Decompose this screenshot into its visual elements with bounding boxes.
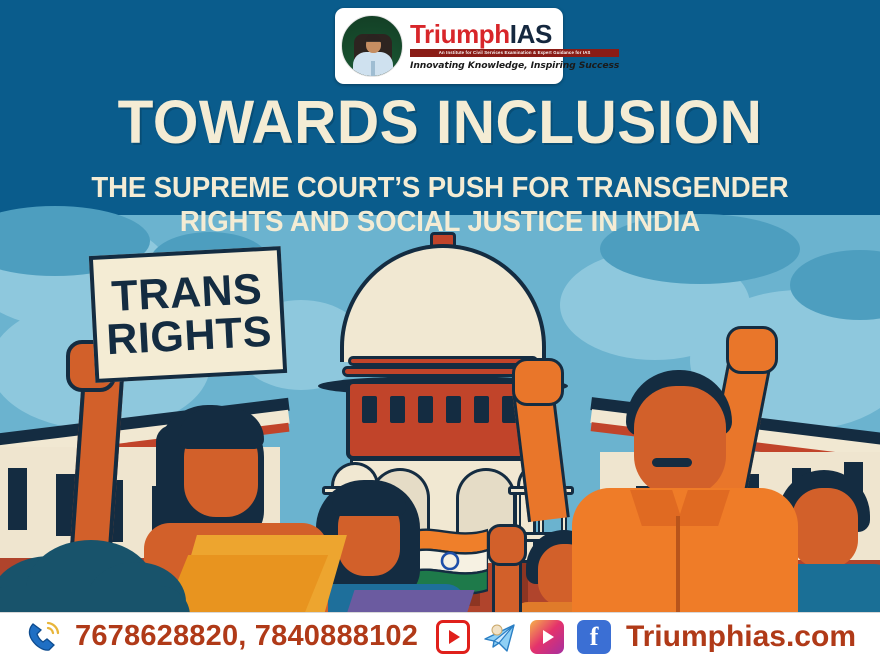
left-wing-window (8, 468, 27, 530)
contact-footer-bar: 7678628820, 7840888102 f Triumphias.com (0, 612, 880, 660)
shirt-placket (676, 516, 680, 626)
drum-window (474, 396, 489, 423)
drum-window (390, 396, 405, 423)
drum-window (362, 396, 377, 423)
brand-descriptor-strip: An Institute for Civil Services Examinat… (410, 49, 619, 57)
right-fist (726, 326, 778, 374)
subtitle-line-1: THE SUPREME COURT’S PUSH FOR TRANSGENDER (22, 172, 858, 206)
raised-fist-center (487, 524, 527, 566)
instagram-icon[interactable] (530, 620, 564, 654)
left-fist (512, 358, 564, 406)
moustache (652, 458, 692, 467)
brand-logo-card[interactable]: TriumphIAS An Institute for Civil Servic… (335, 8, 563, 84)
brand-name-secondary: IAS (510, 19, 552, 49)
instagram-play-triangle (543, 630, 554, 644)
phone-numbers[interactable]: 7678628820, 7840888102 (75, 620, 418, 653)
founder-portrait-photo (341, 15, 403, 77)
portrait-glasses (366, 41, 380, 44)
protest-sign-trans-rights: TRANS RIGHTS (89, 246, 287, 383)
dome-band-upper (348, 356, 538, 366)
dome-shell (340, 244, 546, 362)
dome-drum (346, 380, 540, 460)
brand-text-block: TriumphIAS An Institute for Civil Servic… (403, 21, 619, 71)
hair-top (332, 482, 406, 516)
brand-name: TriumphIAS (410, 21, 619, 48)
subtitle-line-2: RIGHTS AND SOCIAL JUSTICE IN INDIA (22, 206, 858, 240)
face (634, 386, 726, 496)
telegram-icon[interactable] (483, 620, 517, 654)
youtube-play-triangle (449, 630, 460, 644)
poster-canvas: TRANS RIGHTS (0, 0, 880, 660)
sign-line-2: RIGHTS (105, 310, 272, 362)
page-title: TOWARDS INCLUSION (18, 92, 863, 153)
drum-window (446, 396, 461, 423)
drum-window (418, 396, 433, 423)
brand-name-primary: Triumph (410, 19, 510, 49)
phone-call-icon (26, 620, 62, 654)
social-links: f (436, 620, 611, 654)
website-url[interactable]: Triumphias.com (626, 620, 856, 654)
figure-man-in-orange-shirt (578, 330, 808, 620)
portrait-placket (371, 61, 375, 77)
facebook-icon[interactable]: f (577, 620, 611, 654)
hair-top (178, 409, 264, 449)
youtube-icon[interactable] (436, 620, 470, 654)
brand-tagline: Innovating Knowledge, Inspiring Success (410, 60, 619, 71)
page-subtitle: THE SUPREME COURT’S PUSH FOR TRANSGENDER… (22, 172, 858, 240)
